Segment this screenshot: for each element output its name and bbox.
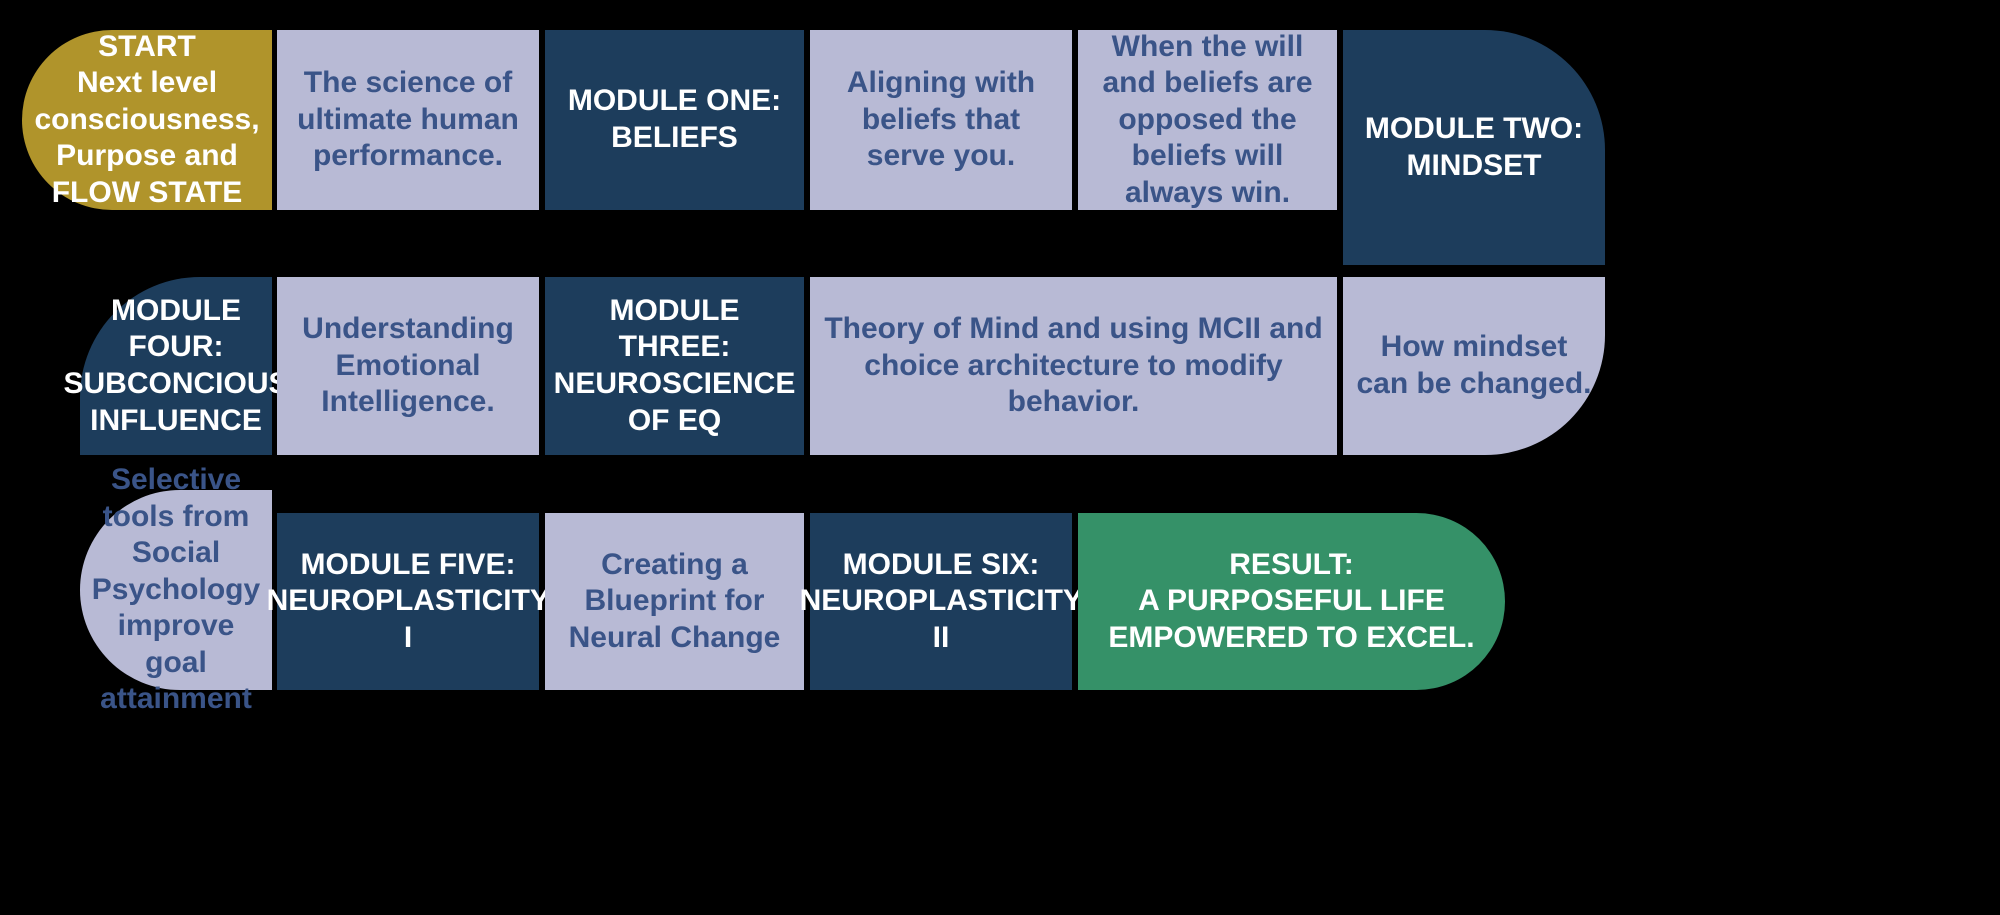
flow-cell-module-five[interactable]: MODULE FIVE: NEUROPLASTICITY I [277, 513, 539, 690]
flow-cell-blueprint[interactable]: Creating a Blueprint for Neural Change [545, 513, 804, 690]
flow-cell-theory-of-mind[interactable]: Theory of Mind and using MCII and choice… [810, 277, 1337, 455]
flow-cell-module-four[interactable]: MODULE FOUR: SUBCONCIOUS INFLUENCE [80, 277, 272, 455]
flow-cell-module-six[interactable]: MODULE SIX: NEUROPLASTICITY II [810, 513, 1072, 690]
flow-cell-will-beliefs[interactable]: When the will and beliefs are opposed th… [1078, 30, 1337, 210]
flow-cell-module-three[interactable]: MODULE THREE: NEUROSCIENCE OF EQ [545, 277, 804, 455]
flow-cell-module-two[interactable]: MODULE TWO: MINDSET [1343, 30, 1605, 265]
flow-cell-start[interactable]: START Next level consciousness, Purpose … [22, 30, 272, 210]
flow-cell-understanding-eq[interactable]: Understanding Emotional Intelligence. [277, 277, 539, 455]
flow-cell-module-one[interactable]: MODULE ONE: BELIEFS [545, 30, 804, 210]
flow-cell-selective-tools[interactable]: Selective tools from Social Psychology i… [80, 490, 272, 690]
flow-cell-result[interactable]: RESULT: A PURPOSEFUL LIFE EMPOWERED TO E… [1078, 513, 1505, 690]
flow-cell-mindset-change[interactable]: How mindset can be changed. [1343, 277, 1605, 455]
flowchart-board: START Next level consciousness, Purpose … [0, 0, 2000, 915]
flow-cell-aligning[interactable]: Aligning with beliefs that serve you. [810, 30, 1072, 210]
flow-cell-science[interactable]: The science of ultimate human performanc… [277, 30, 539, 210]
